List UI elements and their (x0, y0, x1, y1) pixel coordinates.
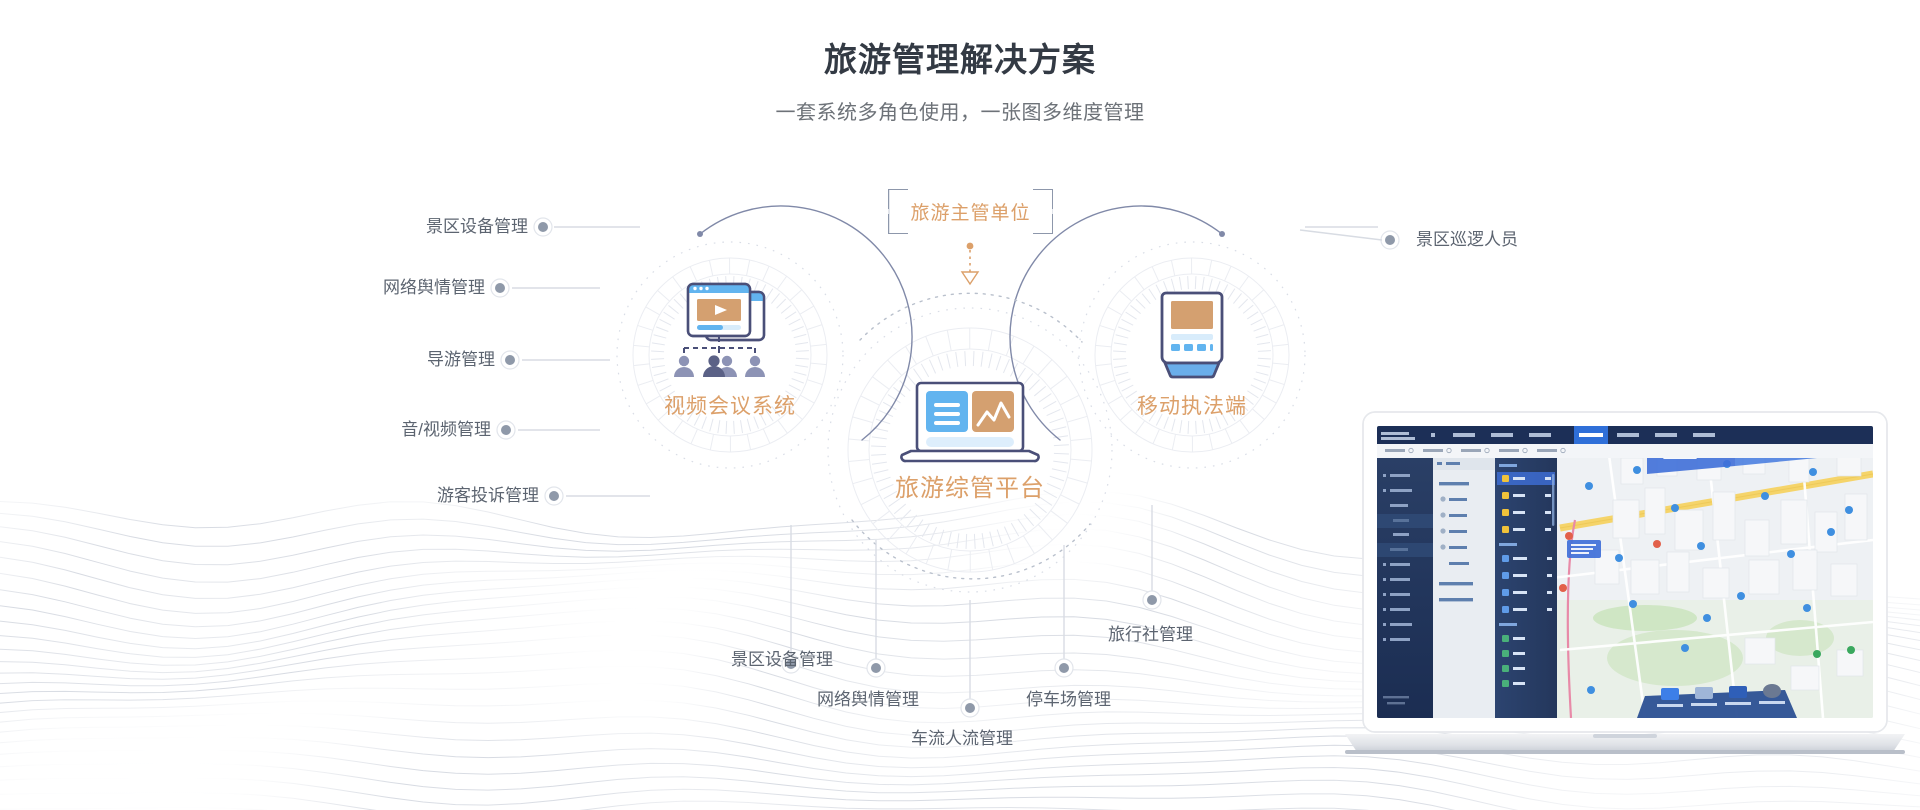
gov-box-corner-bl (888, 214, 908, 234)
gov-box-corner-br (1033, 214, 1053, 234)
label-bottom-3: 车流人流管理 (911, 728, 1013, 750)
ring-label-tourism-platform: 旅游综管平台 (895, 468, 1045, 503)
gov-to-platform-arrow (962, 243, 978, 284)
left-connectors (512, 227, 650, 496)
label-left-2: 网络舆情管理 (365, 277, 485, 299)
center-arc-bottom (852, 520, 1090, 579)
label-left-5: 游客投诉管理 (419, 485, 539, 507)
label-bottom-4: 停车场管理 (1026, 689, 1111, 711)
arc-left-endpoint (697, 231, 703, 237)
label-right-1: 景区巡逻人员 (1416, 229, 1518, 251)
right-connectors (1300, 227, 1399, 249)
ring-label-mobile-enforcement: 移动执法端 (1137, 390, 1247, 420)
bottom-connectors (791, 505, 1152, 700)
laptop-mockup (1345, 400, 1905, 780)
laptop-notch (1593, 734, 1657, 738)
gov-box-corner-tr (1033, 189, 1053, 209)
arrow-head-icon (962, 272, 978, 284)
label-left-4: 音/视频管理 (371, 419, 491, 441)
center-arc-top (860, 293, 1082, 342)
poster-canvas: 旅游管理解决方案 一套系统多角色使用，一张图多维度管理 (0, 0, 1920, 810)
label-bottom-5: 旅行社管理 (1108, 624, 1193, 646)
handheld-device-icon (1162, 293, 1222, 377)
gov-box-corner-tl (888, 189, 908, 209)
header: 旅游管理解决方案 一套系统多角色使用，一张图多维度管理 (0, 38, 1920, 128)
ring-video-conference (617, 242, 843, 468)
ring-outer-dotted (617, 242, 843, 468)
dashboard-screenshot (1377, 426, 1873, 718)
arrow-start-dot (967, 243, 974, 250)
legend-scrollbar[interactable] (1552, 474, 1554, 526)
label-bottom-1: 景区设备管理 (731, 649, 833, 671)
video-conference-icon (674, 284, 765, 377)
label-left-3: 导游管理 (375, 349, 495, 371)
page-subtitle: 一套系统多角色使用，一张图多维度管理 (0, 98, 1920, 128)
dashboard-sidebar (1377, 458, 1433, 718)
arc-right-endpoint (1219, 231, 1225, 237)
page-title: 旅游管理解决方案 (0, 38, 1920, 82)
laptop-dashboard-icon (901, 383, 1038, 461)
gov-authority-box: 旅游主管单位 (888, 189, 1053, 234)
left-connector-dots (491, 218, 563, 505)
ring-label-video-conference: 视频会议系统 (664, 390, 796, 420)
gov-box-label: 旅游主管单位 (910, 198, 1030, 225)
label-bottom-2: 网络舆情管理 (817, 689, 919, 711)
laptop-hinge (1345, 750, 1905, 754)
label-left-1: 景区设备管理 (408, 216, 528, 238)
